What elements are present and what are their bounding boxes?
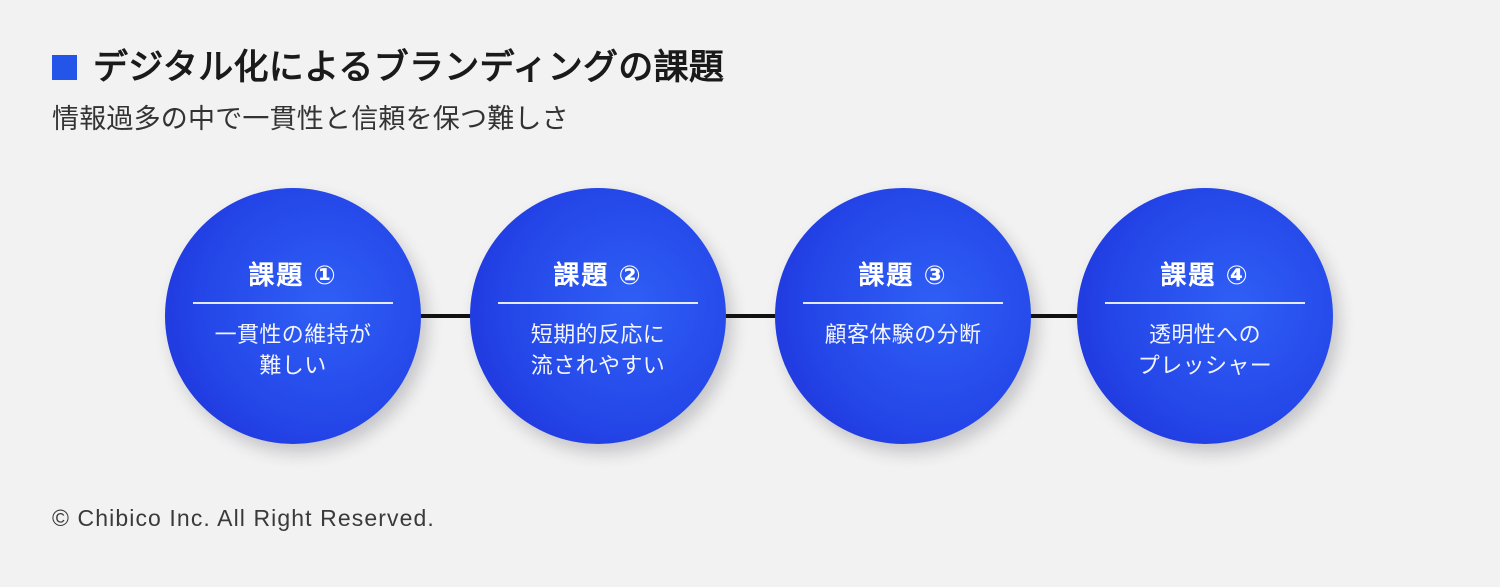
- challenge-node-4[interactable]: 課題 ④ 透明性への プレッシャー: [1077, 188, 1333, 444]
- challenge-node-3-body: 顧客体験の分断: [825, 319, 982, 350]
- slide-header: デジタル化によるブランディングの課題 情報過多の中で一貫性と信頼を保つ難しさ: [52, 44, 1352, 135]
- challenge-node-2-divider: [498, 302, 698, 304]
- challenge-node-2[interactable]: 課題 ② 短期的反応に 流されやすい: [470, 188, 726, 444]
- connector-line-3-4: [1026, 314, 1082, 318]
- page-subtitle: 情報過多の中で一貫性と信頼を保つ難しさ: [52, 104, 1352, 135]
- challenge-node-3-divider: [803, 302, 1003, 304]
- challenge-node-1[interactable]: 課題 ① 一貫性の維持が 難しい: [165, 188, 421, 444]
- challenge-node-1-heading: 課題 ①: [248, 262, 337, 288]
- page-title: デジタル化によるブランディングの課題: [93, 50, 724, 85]
- copyright-footer: © Chibico Inc. All Right Reserved.: [52, 505, 435, 532]
- challenge-node-2-heading: 課題 ②: [553, 262, 642, 288]
- square-bullet-icon: [52, 55, 77, 80]
- challenge-node-3[interactable]: 課題 ③ 顧客体験の分断: [775, 188, 1031, 444]
- process-diagram: 課題 ① 一貫性の維持が 難しい 課題 ② 短期的反応に 流されやすい 課題 ③…: [0, 188, 1500, 446]
- connector-line-1-2: [415, 314, 475, 318]
- challenge-node-1-divider: [193, 302, 393, 304]
- slide-canvas: デジタル化によるブランディングの課題 情報過多の中で一貫性と信頼を保つ難しさ 課…: [0, 0, 1500, 587]
- connector-line-2-3: [720, 314, 780, 318]
- challenge-node-2-body: 短期的反応に 流されやすい: [531, 319, 665, 381]
- challenge-node-3-heading: 課題 ③: [858, 262, 947, 288]
- challenge-node-4-divider: [1105, 302, 1305, 304]
- challenge-node-4-heading: 課題 ④: [1160, 262, 1249, 288]
- challenge-node-1-body: 一貫性の維持が 難しい: [215, 319, 372, 381]
- challenge-node-4-body: 透明性への プレッシャー: [1138, 319, 1272, 381]
- page-title-row: デジタル化によるブランディングの課題: [52, 44, 1352, 90]
